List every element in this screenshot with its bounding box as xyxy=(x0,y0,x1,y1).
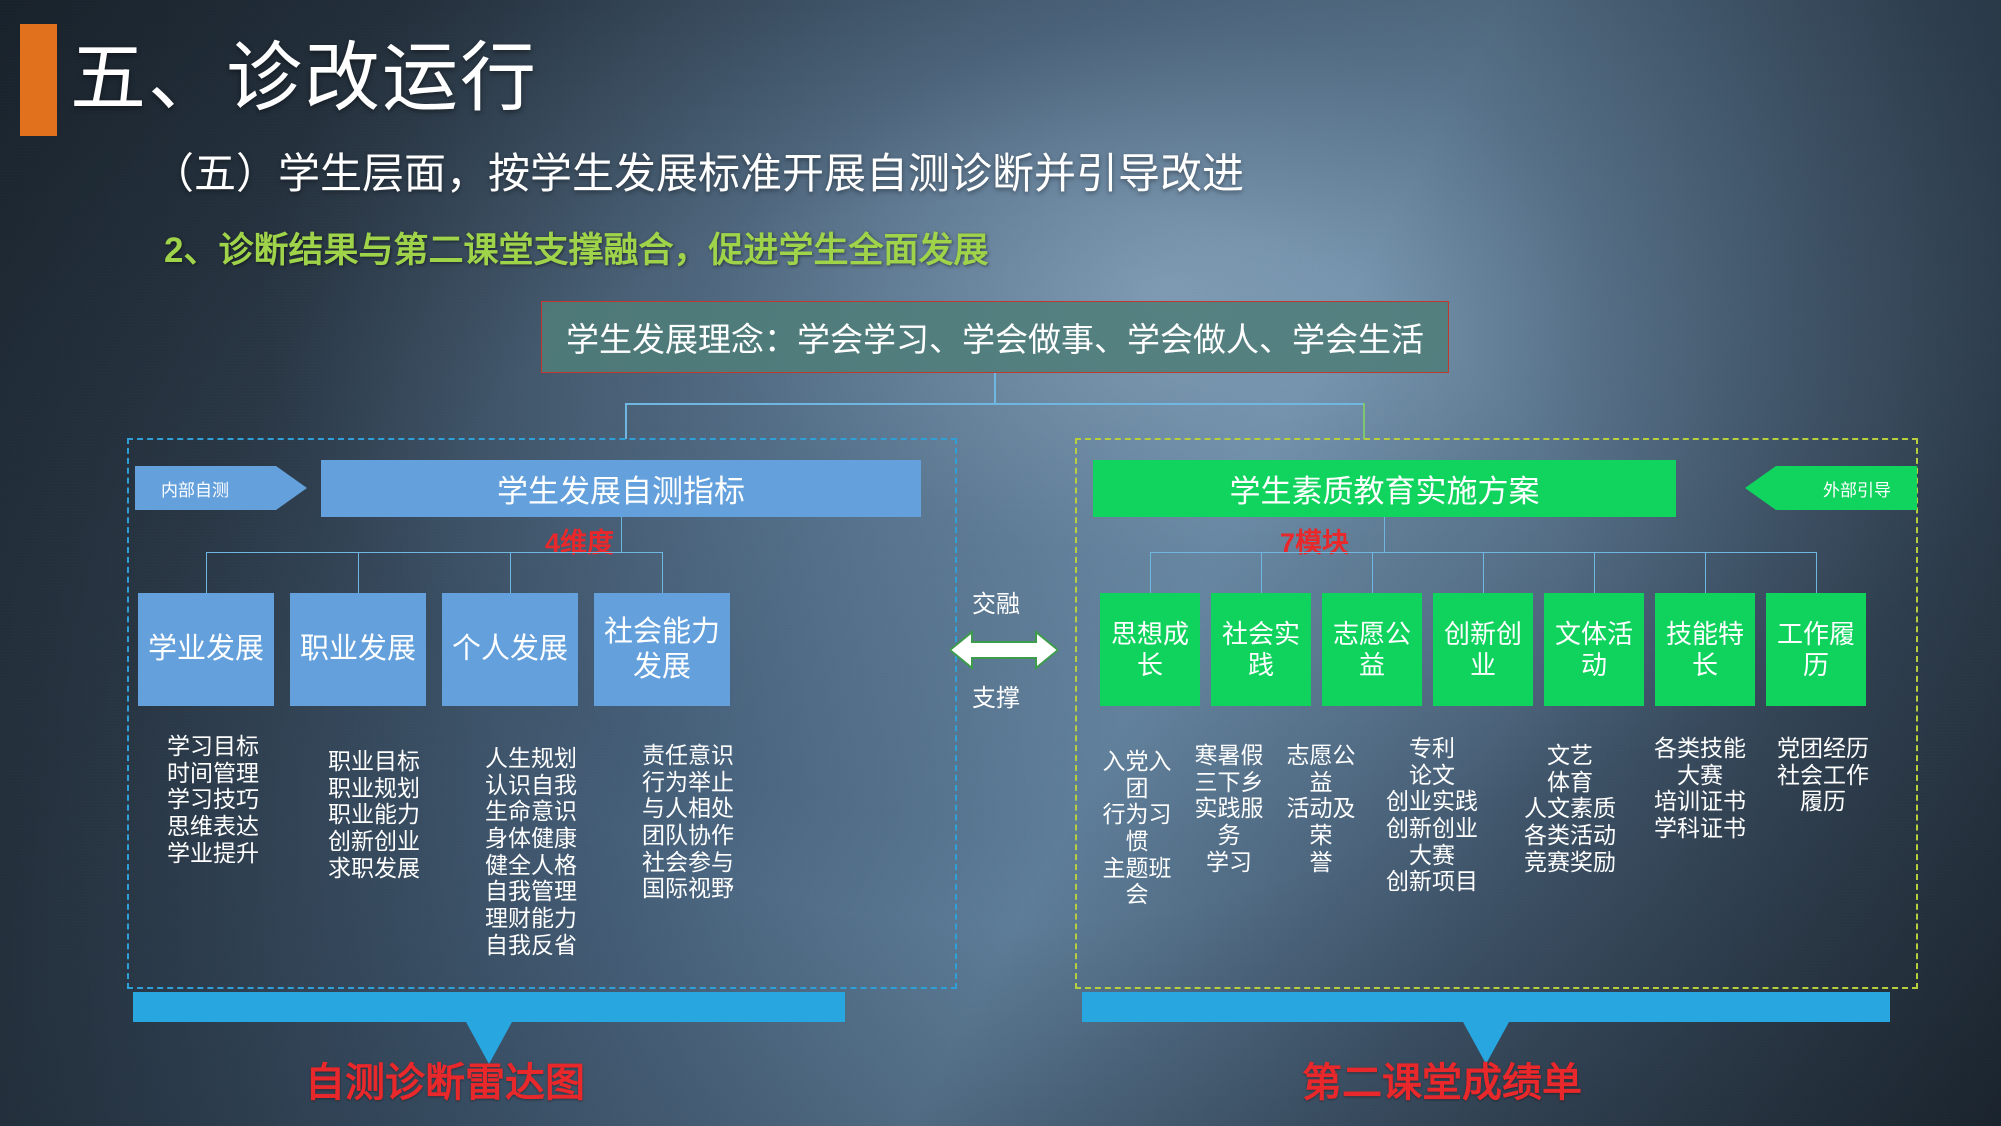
right-node-row: 思想成长社会实践志愿公益创新创业文体活动技能特长工作履历 xyxy=(1100,593,1900,706)
middle-bottom-label: 支撑 xyxy=(972,678,1020,713)
left-node-row: 学业发展职业发展个人发展社会能力发展 xyxy=(138,593,950,706)
left-detail-item: 人生规划 xyxy=(456,745,606,772)
left-node-label: 个人发展 xyxy=(452,632,568,666)
left-node-2[interactable]: 职业发展 xyxy=(290,593,426,706)
right-node-7[interactable]: 工作履历 xyxy=(1766,593,1866,706)
right-detail-item: 主题班会 xyxy=(1098,855,1176,908)
left-detail-item: 健全人格 xyxy=(456,852,606,879)
title-accent-bar xyxy=(20,24,57,136)
left-detail-item: 时间管理 xyxy=(138,760,288,787)
right-detail-item: 文艺 xyxy=(1510,742,1630,769)
right-panel-header: 学生素质教育实施方案 xyxy=(1093,460,1676,517)
right-node-4[interactable]: 创新创业 xyxy=(1433,593,1533,706)
left-detail-item: 责任意识 xyxy=(613,742,763,769)
right-bottom-label: 第二课堂成绩单 xyxy=(1302,1050,1582,1108)
right-detail-item: 志愿公益 xyxy=(1282,742,1360,795)
left-detail-item: 认识自我 xyxy=(456,772,606,799)
left-detail-column-1: 学习目标时间管理学习技巧思维表达学业提升 xyxy=(138,733,288,866)
left-bottom-bar xyxy=(133,992,845,1022)
right-panel-tag: 外部引导 xyxy=(1745,466,1917,510)
tree-connector-segment xyxy=(1816,552,1817,593)
left-detail-item: 理财能力 xyxy=(456,905,606,932)
left-node-label: 职业发展 xyxy=(300,632,416,666)
left-detail-item: 思维表达 xyxy=(138,813,288,840)
right-detail-item: 活动及荣 xyxy=(1282,795,1360,848)
left-detail-column-3: 人生规划认识自我生命意识身体健康健全人格自我管理理财能力自我反省 xyxy=(456,745,606,958)
connector-left-drop xyxy=(625,403,627,439)
right-detail-item: 创新项目 xyxy=(1372,868,1492,895)
right-detail-item: 人文素质 xyxy=(1510,795,1630,822)
right-detail-column-7: 党团经历社会工作履历 xyxy=(1768,735,1878,815)
left-detail-item: 团队协作 xyxy=(613,822,763,849)
right-node-5[interactable]: 文体活动 xyxy=(1544,593,1644,706)
left-node-3[interactable]: 个人发展 xyxy=(442,593,578,706)
right-detail-item: 论文 xyxy=(1372,762,1492,789)
right-node-label: 创新创业 xyxy=(1437,619,1529,680)
tree-connector-segment xyxy=(1372,552,1373,593)
right-detail-item: 各类技能 xyxy=(1640,735,1760,762)
right-detail-column-5: 文艺体育人文素质各类活动竞赛奖励 xyxy=(1510,742,1630,875)
right-node-2[interactable]: 社会实践 xyxy=(1211,593,1311,706)
left-panel-count-label: 4维度 xyxy=(545,521,614,560)
left-detail-item: 自我管理 xyxy=(456,878,606,905)
left-bottom-label: 自测诊断雷达图 xyxy=(305,1050,585,1108)
right-panel-border xyxy=(1075,438,1918,989)
right-detail-item: 创业实践 xyxy=(1372,788,1492,815)
left-detail-item: 身体健康 xyxy=(456,825,606,852)
tree-connector-segment xyxy=(1384,517,1385,552)
right-detail-column-3: 志愿公益活动及荣誉 xyxy=(1282,742,1360,875)
left-detail-item: 职业目标 xyxy=(299,748,449,775)
tree-connector-segment xyxy=(1261,552,1262,593)
right-detail-item: 专利 xyxy=(1372,735,1492,762)
right-node-label: 文体活动 xyxy=(1548,619,1640,680)
right-detail-column-4: 专利论文创业实践创新创业大赛创新项目 xyxy=(1372,735,1492,895)
right-detail-column-6: 各类技能大赛培训证书学科证书 xyxy=(1640,735,1760,842)
left-node-label: 学业发展 xyxy=(148,632,264,666)
connector-stem xyxy=(994,373,996,403)
right-panel-count-label: 7模块 xyxy=(1280,521,1349,560)
right-detail-item: 各类活动 xyxy=(1510,822,1630,849)
right-node-label: 思想成长 xyxy=(1104,619,1196,680)
tree-connector-segment xyxy=(206,552,662,553)
right-detail-item: 誉 xyxy=(1282,849,1360,876)
right-node-1[interactable]: 思想成长 xyxy=(1100,593,1200,706)
right-detail-item: 学习 xyxy=(1190,849,1268,876)
left-detail-column-2: 职业目标职业规划职业能力创新创业求职发展 xyxy=(299,748,449,881)
double-arrow-horizontal-icon xyxy=(950,630,1058,670)
left-detail-item: 自我反省 xyxy=(456,932,606,959)
left-detail-column-4: 责任意识行为举止与人相处团队协作社会参与国际视野 xyxy=(613,742,763,902)
right-node-label: 社会实践 xyxy=(1215,619,1307,680)
right-detail-item: 学科证书 xyxy=(1640,815,1760,842)
right-node-label: 技能特长 xyxy=(1659,619,1751,680)
middle-top-label: 交融 xyxy=(972,584,1020,619)
right-bottom-bar xyxy=(1082,992,1890,1022)
left-detail-item: 与人相处 xyxy=(613,795,763,822)
connector-right-drop xyxy=(1363,403,1365,439)
tree-connector-segment xyxy=(1483,552,1484,593)
connector-horizontal xyxy=(625,403,1365,405)
left-detail-item: 学习技巧 xyxy=(138,786,288,813)
right-node-6[interactable]: 技能特长 xyxy=(1655,593,1755,706)
right-detail-column-2: 寒暑假三下乡实践服务学习 xyxy=(1190,742,1268,875)
left-detail-item: 求职发展 xyxy=(299,855,449,882)
left-node-1[interactable]: 学业发展 xyxy=(138,593,274,706)
page-highlight-line: 2、诊断结果与第二课堂支撑融合，促进学生全面发展 xyxy=(164,222,988,273)
right-detail-item: 体育 xyxy=(1510,769,1630,796)
tree-connector-segment xyxy=(621,517,622,552)
left-panel-header: 学生发展自测指标 xyxy=(321,460,921,517)
right-node-label: 志愿公益 xyxy=(1326,619,1418,680)
right-detail-item: 培训证书 xyxy=(1640,788,1760,815)
tree-connector-segment xyxy=(1594,552,1595,593)
right-node-3[interactable]: 志愿公益 xyxy=(1322,593,1422,706)
tree-connector-segment xyxy=(662,552,663,593)
concept-box: 学生发展理念：学会学习、学会做事、学会做人、学会生活 xyxy=(541,301,1449,373)
right-detail-item: 大赛 xyxy=(1372,842,1492,869)
tree-connector-segment xyxy=(510,552,511,593)
tree-connector-segment xyxy=(1705,552,1706,593)
right-detail-item: 实践服务 xyxy=(1190,795,1268,848)
left-detail-item: 国际视野 xyxy=(613,875,763,902)
left-node-label: 社会能力发展 xyxy=(602,615,722,683)
left-detail-item: 社会参与 xyxy=(613,849,763,876)
page-subtitle: （五）学生层面，按学生发展标准开展自测诊断并引导改进 xyxy=(152,140,1244,201)
right-detail-item: 寒暑假 xyxy=(1190,742,1268,769)
left-detail-item: 职业规划 xyxy=(299,775,449,802)
left-detail-item: 行为举止 xyxy=(613,769,763,796)
right-node-label: 工作履历 xyxy=(1770,619,1862,680)
right-detail-item: 入党入团 xyxy=(1098,748,1176,801)
right-detail-item: 党团经历 xyxy=(1768,735,1878,762)
left-detail-item: 学业提升 xyxy=(138,840,288,867)
tree-connector-segment xyxy=(1150,552,1151,593)
right-detail-item: 履历 xyxy=(1768,788,1878,815)
right-detail-item: 竞赛奖励 xyxy=(1510,849,1630,876)
left-detail-item: 学习目标 xyxy=(138,733,288,760)
right-detail-item: 大赛 xyxy=(1640,762,1760,789)
right-detail-item: 创新创业 xyxy=(1372,815,1492,842)
right-detail-item: 社会工作 xyxy=(1768,762,1878,789)
right-detail-column-1: 入党入团行为习惯主题班会 xyxy=(1098,748,1176,908)
left-node-4[interactable]: 社会能力发展 xyxy=(594,593,730,706)
right-detail-item: 三下乡 xyxy=(1190,769,1268,796)
left-panel-tag: 内部自测 xyxy=(135,466,307,510)
tree-connector-segment xyxy=(206,552,207,593)
right-detail-item: 行为习惯 xyxy=(1098,801,1176,854)
page-title: 五、诊改运行 xyxy=(70,16,538,126)
left-detail-item: 生命意识 xyxy=(456,798,606,825)
left-detail-item: 职业能力 xyxy=(299,801,449,828)
left-detail-item: 创新创业 xyxy=(299,828,449,855)
tree-connector-segment xyxy=(358,552,359,593)
